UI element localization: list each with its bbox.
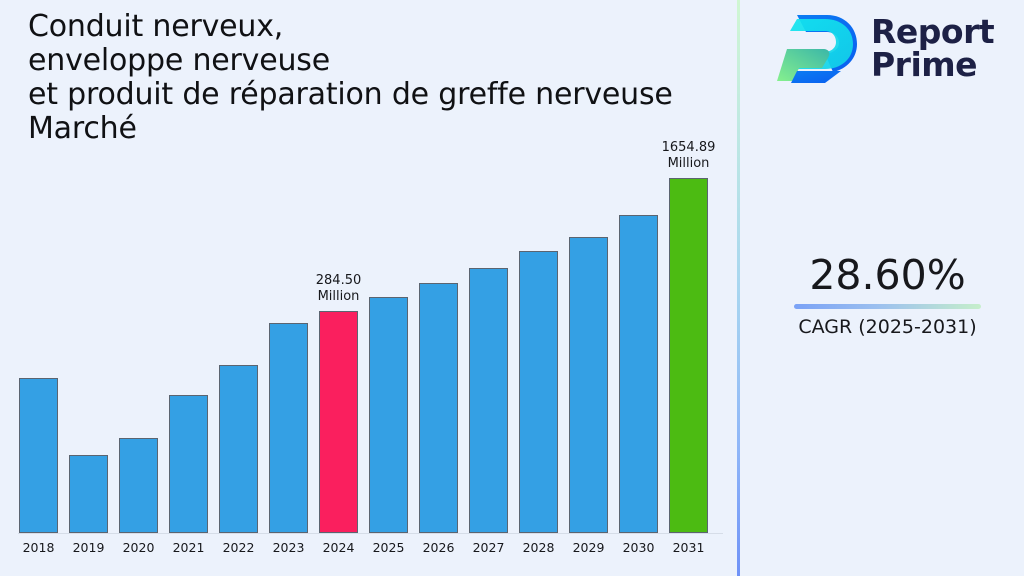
bar-2022[interactable]: [219, 365, 258, 533]
report-prime-r-logo-icon: [775, 9, 861, 87]
bar-value-label-2031: 1654.89 Million: [629, 140, 749, 172]
bar-2018[interactable]: [19, 378, 58, 533]
cagr-rule: [794, 304, 981, 309]
x-tick-2024: 2024: [314, 540, 364, 555]
bar-2029[interactable]: [569, 237, 608, 533]
brand-logo: Report Prime: [775, 8, 1015, 88]
bar-2021[interactable]: [169, 395, 208, 533]
x-tick-2023: 2023: [264, 540, 314, 555]
x-tick-2026: 2026: [414, 540, 464, 555]
bar-2027[interactable]: [469, 268, 508, 533]
x-tick-2018: 2018: [14, 540, 64, 555]
x-tick-2029: 2029: [564, 540, 614, 555]
bar-2025[interactable]: [369, 297, 408, 533]
x-tick-2021: 2021: [164, 540, 214, 555]
cagr-value: 28.60%: [760, 252, 1015, 298]
x-axis-line: [18, 533, 723, 534]
cagr-panel: 28.60% CAGR (2025-2031): [760, 252, 1015, 338]
x-tick-2019: 2019: [64, 540, 114, 555]
panel-divider: [737, 0, 740, 576]
bar-value-label-2024: 284.50 Million: [279, 273, 399, 305]
x-tick-2022: 2022: [214, 540, 264, 555]
bar-2031[interactable]: [669, 178, 708, 533]
bar-2030[interactable]: [619, 215, 658, 533]
x-tick-2031: 2031: [664, 540, 714, 555]
x-tick-2028: 2028: [514, 540, 564, 555]
brand-logo-line2: Prime: [871, 45, 977, 84]
bar-chart: 2018201920202021202220232024202520262027…: [0, 0, 737, 576]
bar-2024[interactable]: [319, 311, 358, 533]
bar-2020[interactable]: [119, 438, 158, 533]
brand-logo-text: Report Prime: [871, 15, 994, 81]
infographic-page: Conduit nerveux, enveloppe nerveuse et p…: [0, 0, 1024, 576]
bar-2026[interactable]: [419, 283, 458, 533]
bar-2028[interactable]: [519, 251, 558, 533]
bar-2023[interactable]: [269, 323, 308, 533]
x-tick-2025: 2025: [364, 540, 414, 555]
x-tick-2027: 2027: [464, 540, 514, 555]
x-tick-2030: 2030: [614, 540, 664, 555]
cagr-label: CAGR (2025-2031): [760, 316, 1015, 338]
x-tick-2020: 2020: [114, 540, 164, 555]
bar-2019[interactable]: [69, 455, 108, 533]
